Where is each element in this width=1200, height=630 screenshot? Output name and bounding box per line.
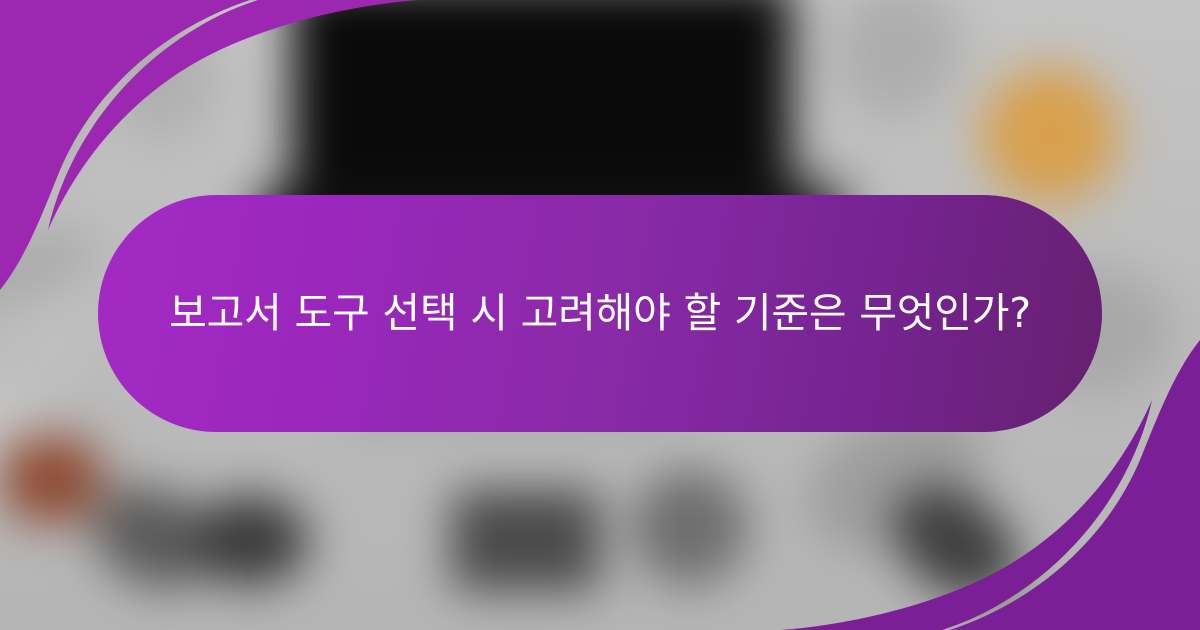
banner-card: 보고서 도구 선택 시 고려해야 할 기준은 무엇인가? [0, 0, 1200, 630]
background-object-orange [982, 66, 1120, 204]
title-banner: 보고서 도구 선택 시 고려해야 할 기준은 무엇인가? [98, 195, 1102, 432]
background-object-red [1, 437, 102, 522]
background-object [452, 490, 600, 591]
banner-title: 보고서 도구 선택 시 고려해야 할 기준은 무엇인가? [169, 285, 1031, 342]
background-object [192, 495, 309, 585]
laptop-screen [293, 0, 791, 193]
background-object [632, 469, 749, 586]
